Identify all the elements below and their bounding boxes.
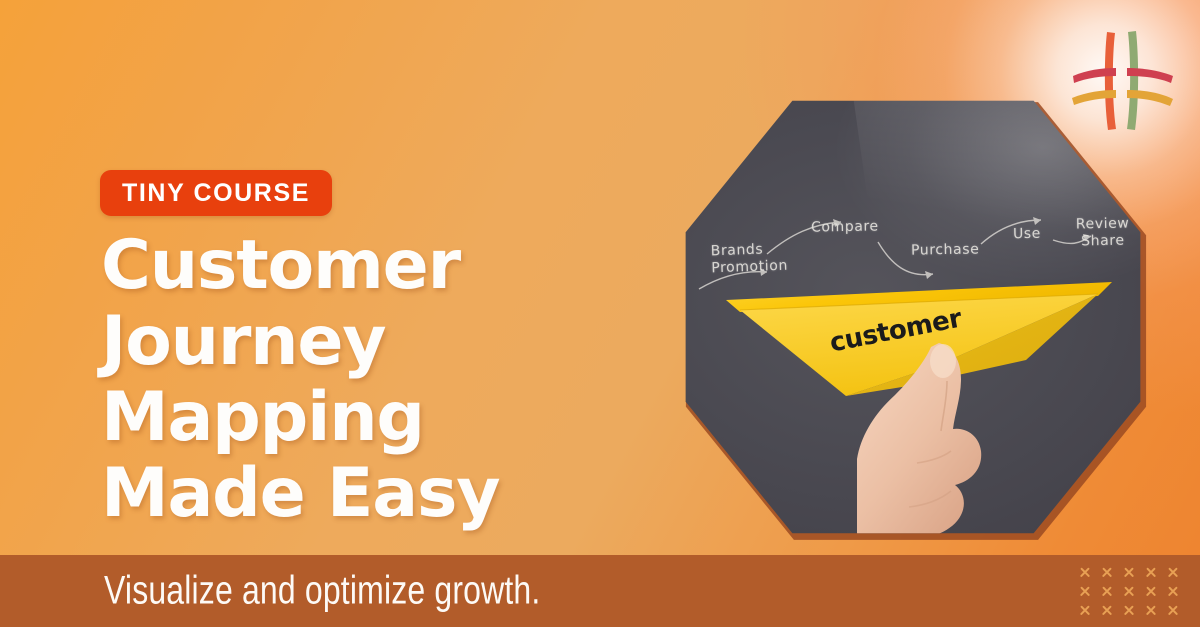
cross-icon bbox=[1162, 601, 1184, 620]
cross-icon bbox=[1118, 601, 1140, 620]
cross-icon bbox=[1074, 601, 1096, 620]
promo-banner: Brands Promotion Compare Purchase Use Re… bbox=[0, 0, 1200, 627]
journey-stage-label: Purchase bbox=[911, 241, 980, 259]
journey-stage-label: Brands Promotion bbox=[710, 241, 788, 277]
footer-subtitle: Visualize and optimize growth. bbox=[104, 569, 540, 614]
cross-icon bbox=[1074, 582, 1096, 601]
hand bbox=[851, 339, 1026, 540]
footer-bar: Visualize and optimize growth. bbox=[0, 555, 1200, 627]
cross-icon bbox=[1096, 601, 1118, 620]
cross-icon bbox=[1096, 563, 1118, 582]
headline-line-2: Journey bbox=[101, 304, 681, 380]
hero-image: Brands Promotion Compare Purchase Use Re… bbox=[681, 94, 1145, 540]
journey-stage-label: Use bbox=[1013, 226, 1041, 243]
headline-line-1: Customer bbox=[101, 228, 681, 304]
headline-line-3: Mapping bbox=[101, 380, 681, 456]
cross-icon bbox=[1118, 582, 1140, 601]
badge-label: TINY COURSE bbox=[122, 179, 310, 208]
cross-icon bbox=[1140, 601, 1162, 620]
chalkboard-photo: Brands Promotion Compare Purchase Use Re… bbox=[681, 94, 1145, 540]
journey-stage-label: Compare bbox=[811, 218, 879, 236]
page-title: Customer Journey Mapping Made Easy bbox=[101, 228, 681, 532]
headline-line-4: Made Easy bbox=[101, 456, 681, 532]
cross-icon bbox=[1096, 582, 1118, 601]
cross-icon bbox=[1140, 563, 1162, 582]
tiny-course-badge[interactable]: TINY COURSE bbox=[100, 170, 332, 216]
cross-icon bbox=[1162, 563, 1184, 582]
cross-pattern-decoration bbox=[1074, 563, 1184, 620]
hash-crosshatch-logo bbox=[1063, 22, 1181, 140]
cross-icon bbox=[1074, 563, 1096, 582]
journey-stage-label: Review Share bbox=[1076, 216, 1130, 250]
cross-icon bbox=[1140, 582, 1162, 601]
cross-icon bbox=[1162, 582, 1184, 601]
cross-icon bbox=[1118, 563, 1140, 582]
